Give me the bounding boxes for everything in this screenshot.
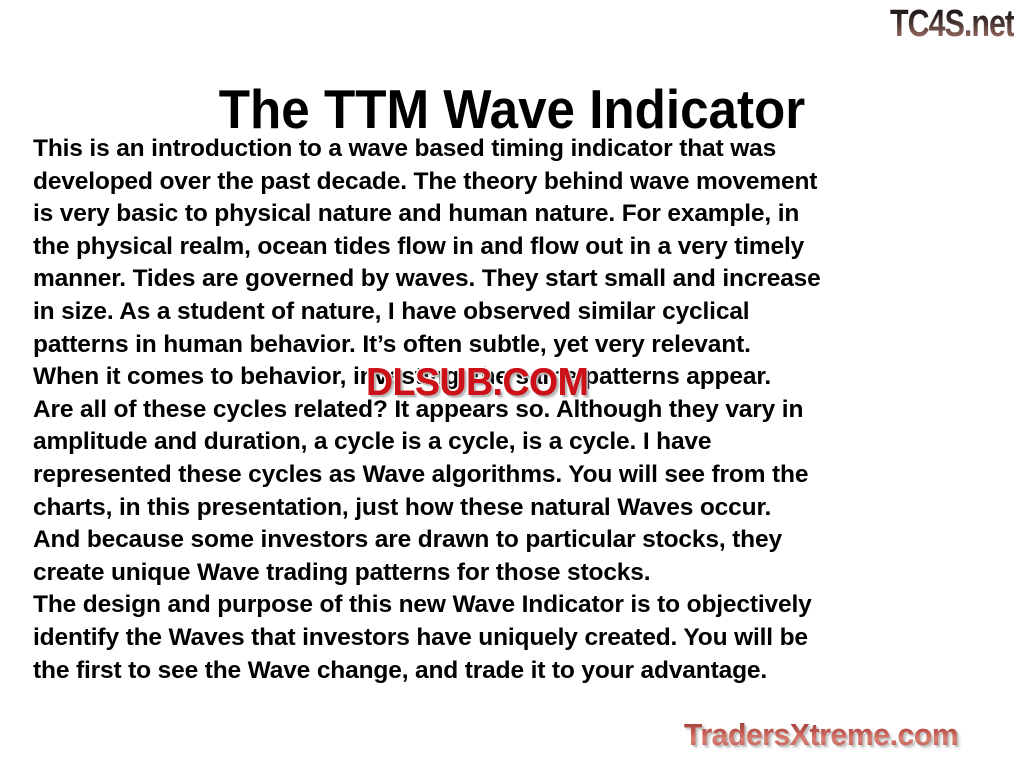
body-line: represented these cycles as Wave algorit… — [33, 459, 998, 492]
tradersxtreme-logo: TradersXtreme.comTradersXtreme.com — [684, 718, 958, 752]
body-line: the physical realm, ocean tides flow in … — [33, 231, 998, 264]
slide-canvas: TC4S.net The TTM Wave Indicator This is … — [0, 0, 1024, 768]
dlsub-watermark: DLSUB.COMDLSUB.COM — [366, 363, 588, 402]
body-text: This is an introduction to a wave based … — [33, 133, 998, 687]
body-line: developed over the past decade. The theo… — [33, 166, 998, 199]
body-line: the first to see the Wave change, and tr… — [33, 655, 998, 688]
body-line: amplitude and duration, a cycle is a cyc… — [33, 426, 998, 459]
body-line: The design and purpose of this new Wave … — [33, 589, 998, 622]
body-line: And because some investors are drawn to … — [33, 524, 998, 557]
body-line: This is an introduction to a wave based … — [33, 133, 998, 166]
body-line: identify the Waves that investors have u… — [33, 622, 998, 655]
body-line: patterns in human behavior. It’s often s… — [33, 329, 998, 362]
page-title: The TTM Wave Indicator — [36, 79, 988, 139]
body-line: charts, in this presentation, just how t… — [33, 492, 998, 525]
body-line: in size. As a student of nature, I have … — [33, 296, 998, 329]
tradersxtreme-logo-fill: TradersXtreme.com — [684, 718, 958, 752]
tc4s-logo: TC4S.net — [890, 4, 1014, 44]
body-line: create unique Wave trading patterns for … — [33, 557, 998, 590]
dlsub-watermark-fill: DLSUB.COM — [366, 363, 588, 402]
body-line: is very basic to physical nature and hum… — [33, 198, 998, 231]
body-line: manner. Tides are governed by waves. The… — [33, 263, 998, 296]
